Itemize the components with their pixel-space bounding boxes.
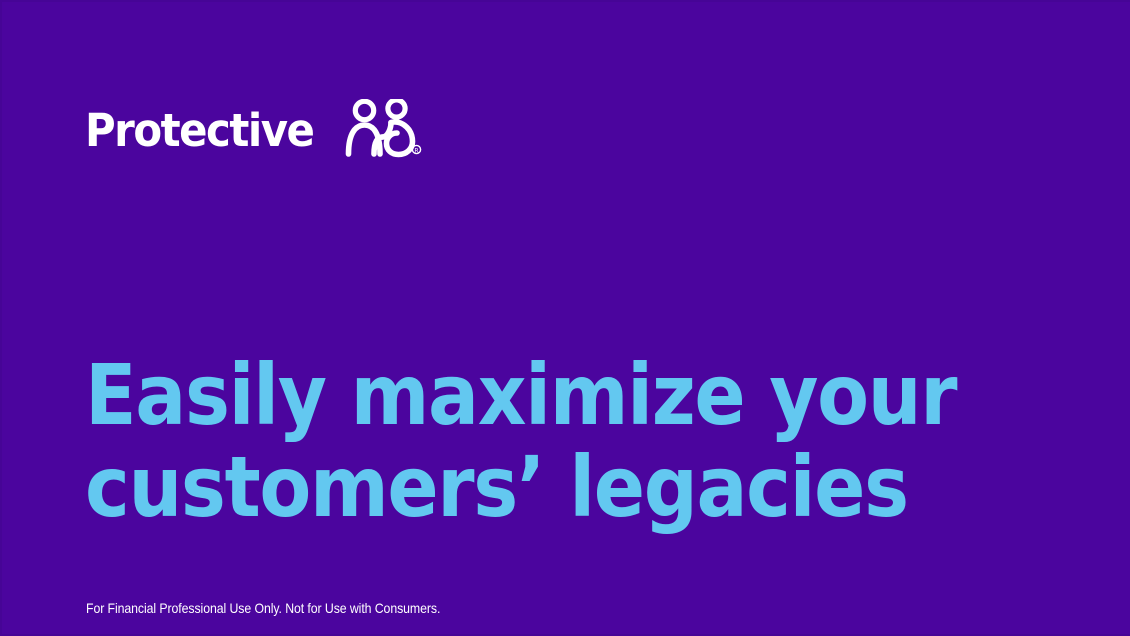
brand-logo: Protective R	[85, 97, 422, 163]
brand-wordmark: Protective	[85, 108, 313, 153]
headline-line-2: customers’ legacies	[85, 441, 877, 533]
presentation-slide: Protective R E	[0, 0, 1130, 636]
svg-text:R: R	[414, 147, 418, 154]
footer-disclaimer: For Financial Professional Use Only. Not…	[86, 600, 440, 617]
headline-line-1: Easily maximize your	[85, 349, 877, 441]
two-people-figures-icon: R	[344, 99, 422, 164]
slide-headline: Easily maximize your customers’ legacies	[85, 349, 877, 533]
registered-trademark-icon: R	[412, 145, 420, 154]
